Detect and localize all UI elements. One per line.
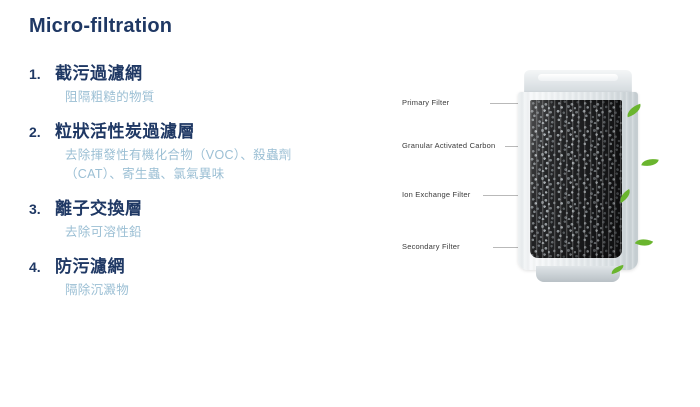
list-item-number: 3. bbox=[29, 201, 55, 217]
list-item-subtext-line1: 去除揮發性有機化合物（VOC）、殺蟲劑 bbox=[65, 148, 292, 162]
list-item: 4. 防污濾網 隔除沉澱物 bbox=[29, 256, 374, 300]
list-item-subtext: 隔除沉澱物 bbox=[65, 281, 365, 300]
list-item-subtext-line1: 阻隔粗糙的物質 bbox=[65, 90, 155, 104]
list-item-subtext: 去除揮發性有機化合物（VOC）、殺蟲劑 （CAT）、寄生蟲、氯氣異味 bbox=[65, 146, 365, 184]
list-item-heading: 離子交換層 bbox=[55, 198, 143, 219]
list-item-subtext-line1: 去除可溶性鉛 bbox=[65, 225, 142, 239]
list-item-number: 4. bbox=[29, 259, 55, 275]
list-item-heading: 防污濾網 bbox=[55, 256, 125, 277]
list-item-head: 3. 離子交換層 bbox=[29, 198, 374, 219]
list-item-head: 4. 防污濾網 bbox=[29, 256, 374, 277]
list-item-head: 1. 截污過濾網 bbox=[29, 63, 374, 84]
slide: Micro-filtration 1. 截污過濾網 阻隔粗糙的物質 2. 粒狀活… bbox=[0, 0, 700, 407]
cartridge-base bbox=[536, 266, 620, 282]
list-item-number: 1. bbox=[29, 66, 55, 82]
diagram-label-secondary-filter: Secondary Filter bbox=[402, 242, 460, 251]
page-title: Micro-filtration bbox=[29, 15, 172, 38]
list-item-heading: 截污過濾網 bbox=[55, 63, 143, 84]
list-item: 2. 粒狀活性炭過濾層 去除揮發性有機化合物（VOC）、殺蟲劑 （CAT）、寄生… bbox=[29, 121, 374, 184]
diagram-label-primary-filter: Primary Filter bbox=[402, 98, 449, 107]
list-item: 1. 截污過濾網 阻隔粗糙的物質 bbox=[29, 63, 374, 107]
numbered-list: 1. 截污過濾網 阻隔粗糙的物質 2. 粒狀活性炭過濾層 去除揮發性有機化合物（… bbox=[29, 63, 374, 314]
list-item-heading: 粒狀活性炭過濾層 bbox=[55, 121, 195, 142]
filter-cartridge-illustration bbox=[518, 70, 638, 285]
list-item-subtext-line1: 隔除沉澱物 bbox=[65, 283, 129, 297]
leaf-icon bbox=[641, 156, 659, 168]
media-sheen bbox=[530, 100, 622, 258]
list-item-head: 2. 粒狀活性炭過濾層 bbox=[29, 121, 374, 142]
diagram-label-ion-exchange-filter: Ion Exchange Filter bbox=[402, 190, 470, 199]
list-item-subtext: 去除可溶性鉛 bbox=[65, 223, 365, 242]
carbon-media bbox=[530, 100, 622, 258]
list-item: 3. 離子交換層 去除可溶性鉛 bbox=[29, 198, 374, 242]
cartridge-shell bbox=[518, 92, 638, 270]
list-item-subtext-line2: （CAT）、寄生蟲、氯氣異味 bbox=[65, 165, 365, 184]
list-item-number: 2. bbox=[29, 124, 55, 140]
filter-diagram: Primary Filter Granular Activated Carbon… bbox=[380, 70, 680, 330]
list-item-subtext: 阻隔粗糙的物質 bbox=[65, 88, 365, 107]
diagram-label-granular-activated-carbon: Granular Activated Carbon bbox=[402, 141, 495, 150]
